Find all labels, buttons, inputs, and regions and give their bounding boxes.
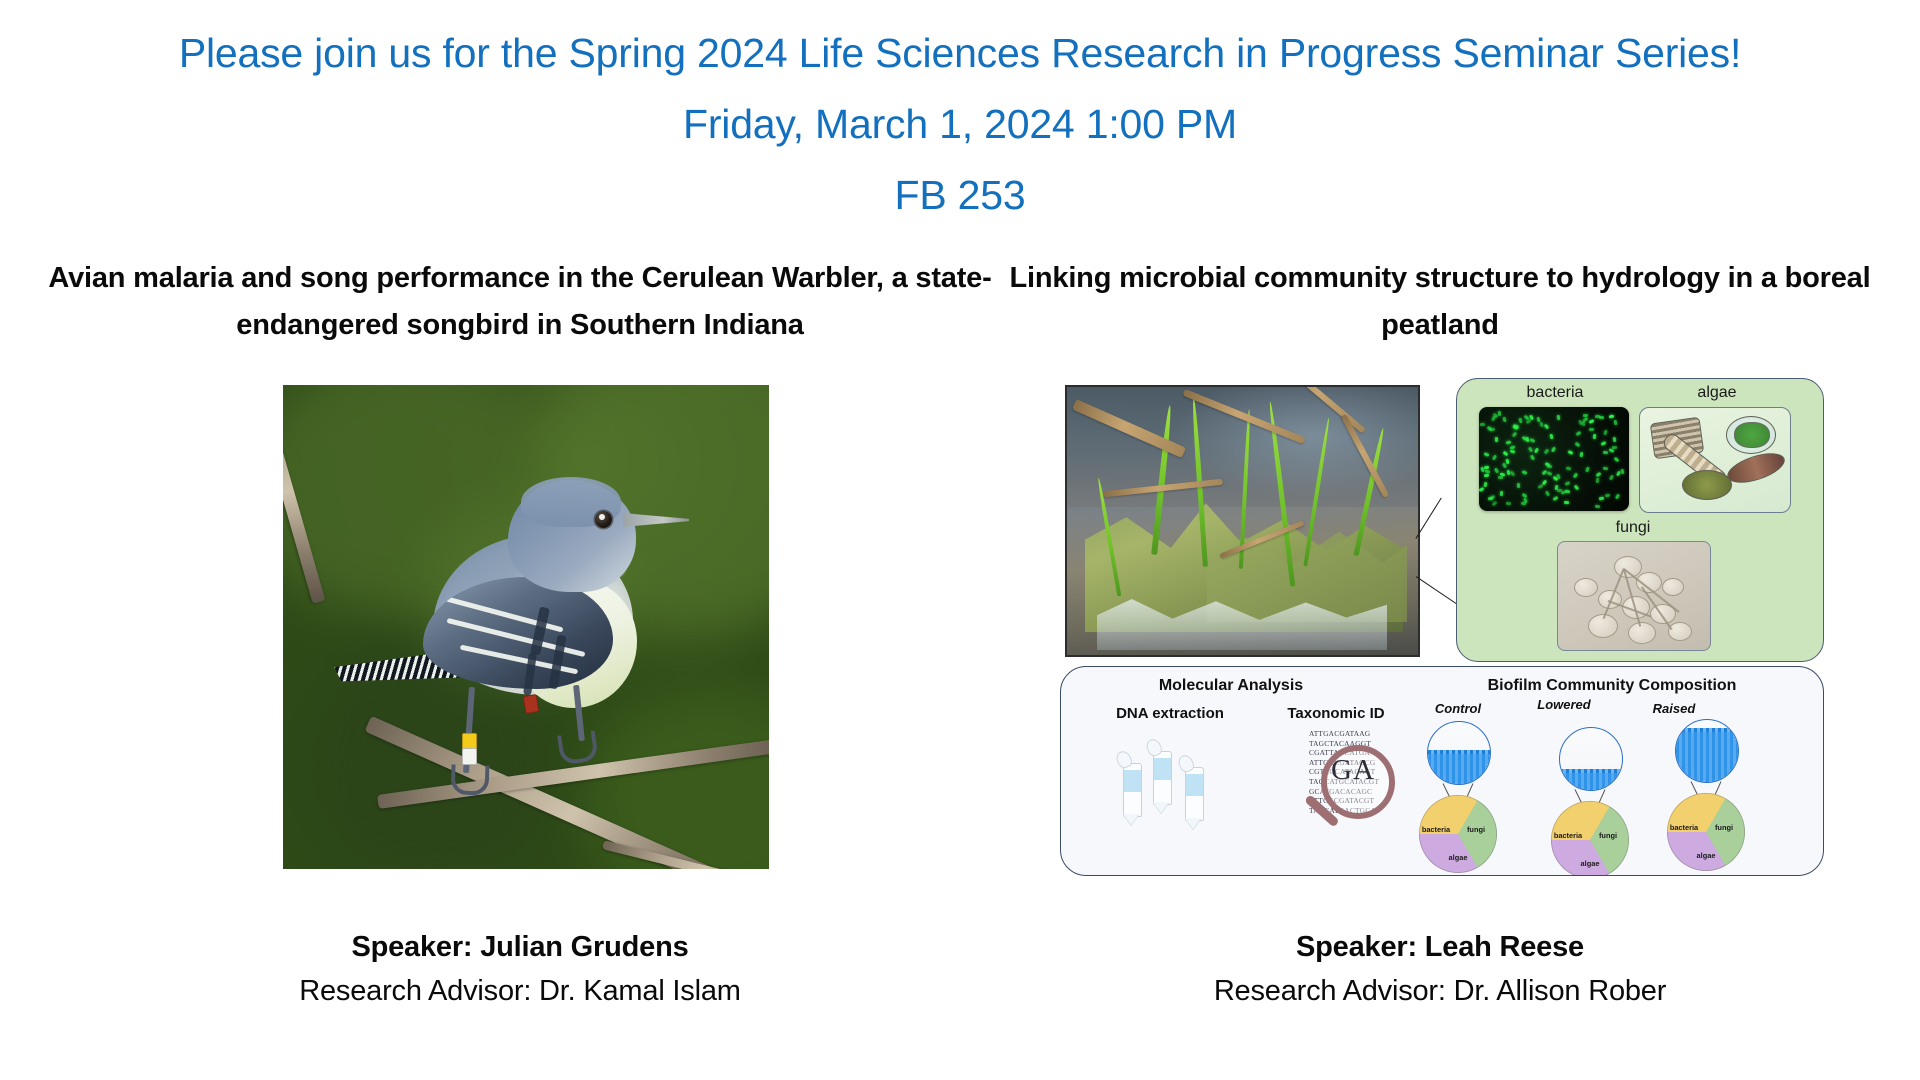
microcentrifuge-tube <box>1185 767 1204 821</box>
right-speaker-block: Speaker: Leah Reese Research Advisor: Dr… <box>990 925 1890 1013</box>
leg-band-white <box>462 748 477 765</box>
bacteria-cell <box>1614 494 1619 500</box>
bacteria-cell <box>1549 434 1553 440</box>
condition-label-lowered: Lowered <box>1509 697 1619 712</box>
fungi-micrograph <box>1557 541 1711 651</box>
algae-micrograph <box>1639 407 1791 513</box>
methods-schematic-panel: Molecular Analysis Biofilm Community Com… <box>1060 666 1824 876</box>
bacteria-cell <box>1537 484 1543 489</box>
bacteria-cell <box>1547 471 1553 476</box>
bacteria-cell <box>1613 457 1619 463</box>
bacteria-cell <box>1534 447 1539 453</box>
bacteria-cell <box>1500 472 1506 476</box>
bacteria-cell <box>1539 421 1543 427</box>
left-talk-title: Avian malaria and song performance in th… <box>40 255 1000 349</box>
bacteria-cell <box>1599 416 1604 419</box>
bacteria-cell <box>1566 467 1572 471</box>
bacteria-cell <box>1564 501 1569 504</box>
water-surface <box>1676 728 1738 732</box>
bacteria-cell <box>1546 464 1551 468</box>
bacteria-cell <box>1529 414 1534 420</box>
bacteria-cell <box>1530 454 1535 460</box>
bacteria-cell <box>1483 453 1489 458</box>
fungal-spore <box>1574 578 1598 597</box>
bacteria-cell <box>1523 498 1528 504</box>
bacteria-cell <box>1500 491 1503 496</box>
bacteria-cell <box>1510 470 1516 476</box>
bird-beak <box>623 513 689 527</box>
bacteria-cell <box>1480 423 1485 426</box>
green-alga <box>1734 422 1770 448</box>
seminar-header: Please join us for the Spring 2024 Life … <box>0 18 1920 231</box>
bacteria-cell <box>1498 411 1501 416</box>
tube-tip <box>1153 802 1169 813</box>
microcentrifuge-tube <box>1153 751 1172 805</box>
magnified-letters: GA <box>1329 754 1377 787</box>
bacteria-cell <box>1484 473 1489 477</box>
water-fill <box>1676 732 1738 782</box>
right-speaker-name: Speaker: Leah Reese <box>990 925 1890 969</box>
bacteria-cell <box>1603 467 1608 471</box>
bacteria-cell <box>1573 472 1578 478</box>
bacteria-cell <box>1557 415 1561 420</box>
fungal-spore <box>1628 622 1656 644</box>
bacteria-cell <box>1596 472 1602 477</box>
bacteria-cell <box>1528 446 1533 452</box>
pie-slice-label-bacteria: bacteria <box>1417 825 1455 834</box>
magnifier-icon: GA <box>1311 745 1385 819</box>
water-level-circle-lowered <box>1559 727 1623 791</box>
bird-eye-highlight <box>599 514 605 520</box>
fungal-spore <box>1662 578 1684 596</box>
bacteria-cell <box>1490 427 1495 431</box>
bacteria-cell <box>1596 478 1599 483</box>
peatland-photo <box>1065 385 1420 657</box>
right-talk-title: Linking microbial community structure to… <box>990 255 1890 349</box>
slide-canvas: Please join us for the Spring 2024 Life … <box>0 0 1920 1080</box>
header-line-datetime: Friday, March 1, 2024 1:00 PM <box>0 89 1920 160</box>
bacteria-cell <box>1491 415 1496 421</box>
microbial-inset-panel: bacteria algae fungi <box>1456 378 1824 662</box>
bacteria-cell <box>1510 449 1516 453</box>
bacteria-cell <box>1576 431 1582 436</box>
bacteria-cell <box>1605 493 1611 497</box>
cerulean-warbler-photo <box>283 385 769 869</box>
pie-slice-label-algae: algae <box>1575 859 1605 868</box>
bacteria-cell <box>1488 496 1494 500</box>
bacteria-cell <box>1621 469 1625 475</box>
water-level-circle-control <box>1427 721 1491 785</box>
warbler-bird <box>283 385 769 869</box>
pie-slice-label-fungi: fungi <box>1461 825 1491 834</box>
bacteria-cell <box>1506 459 1510 465</box>
bacteria-cell <box>1479 487 1484 492</box>
fungal-spore <box>1668 622 1692 641</box>
fungal-spore <box>1614 556 1642 578</box>
bacteria-cell <box>1601 441 1607 446</box>
pie-slice-label-fungi: fungi <box>1709 823 1739 832</box>
bacteria-cell <box>1588 419 1594 424</box>
water-fill <box>1560 773 1622 790</box>
bacteria-cell <box>1536 417 1540 423</box>
bacteria-cell <box>1484 466 1489 470</box>
bacteria-cell <box>1575 441 1581 447</box>
bacteria-cell <box>1506 502 1511 506</box>
bacteria-cell <box>1506 441 1512 445</box>
dna-extraction-label: DNA extraction <box>1075 705 1265 722</box>
bacteria-cell <box>1492 455 1497 461</box>
bacteria-cell <box>1512 425 1518 430</box>
left-advisor: Research Advisor: Dr. Kamal Islam <box>40 969 1000 1013</box>
water-level-circle-raised <box>1675 719 1739 783</box>
pie-slice-label-bacteria: bacteria <box>1665 823 1703 832</box>
peatland-figure: bacteria algae fungi Molecular Analysis … <box>1060 378 1822 878</box>
bacteria-cell <box>1543 424 1549 430</box>
condition-label-control: Control <box>1403 701 1513 716</box>
bacteria-cell <box>1603 451 1608 455</box>
bacteria-cell <box>1551 447 1556 453</box>
bacteria-cell <box>1604 430 1608 436</box>
bird-foot <box>450 764 489 795</box>
pie-slice-label-bacteria: bacteria <box>1549 831 1587 840</box>
bacteria-cell <box>1484 482 1488 487</box>
bacteria-cell <box>1503 451 1509 457</box>
bacteria-cell <box>1613 420 1617 425</box>
bacteria-cell <box>1599 496 1605 500</box>
bacteria-cell <box>1495 437 1498 442</box>
bacteria-cell <box>1493 467 1498 473</box>
bird-foot <box>557 731 599 766</box>
algae-label: algae <box>1657 384 1777 402</box>
bacteria-cell <box>1612 445 1617 448</box>
bacteria-cell <box>1616 471 1621 477</box>
callout-leader-line <box>1416 576 1460 606</box>
bacteria-cell <box>1541 469 1547 475</box>
bacteria-cell <box>1545 490 1550 496</box>
bacteria-cell <box>1530 438 1536 443</box>
molecular-analysis-heading: Molecular Analysis <box>1091 677 1371 695</box>
bacteria-cell <box>1503 417 1507 423</box>
biofilm-composition-heading: Biofilm Community Composition <box>1421 677 1803 695</box>
diatom <box>1682 470 1732 500</box>
microcentrifuge-tube <box>1123 763 1142 817</box>
bacteria-cell <box>1608 414 1614 418</box>
water-surface <box>1560 769 1622 773</box>
bacteria-cell <box>1613 437 1617 442</box>
bacteria-cell <box>1517 483 1520 488</box>
header-line-title: Please join us for the Spring 2024 Life … <box>0 18 1920 89</box>
bacteria-cell <box>1492 500 1498 506</box>
tube-tip <box>1185 818 1201 829</box>
bacteria-cell <box>1574 485 1579 491</box>
bacteria-cell <box>1552 496 1558 501</box>
left-speaker-name: Speaker: Julian Grudens <box>40 925 1000 969</box>
leg-band-red <box>523 694 540 714</box>
bacteria-cell <box>1518 417 1522 423</box>
bacteria-cell <box>1511 432 1517 438</box>
pie-slice-label-algae: algae <box>1443 853 1473 862</box>
bacteria-label: bacteria <box>1485 384 1625 402</box>
bacteria-micrograph <box>1479 407 1629 511</box>
fungi-label: fungi <box>1553 519 1713 537</box>
bacteria-cell <box>1609 475 1614 481</box>
tube-tip <box>1123 814 1139 825</box>
bacteria-cell <box>1522 470 1528 475</box>
left-speaker-block: Speaker: Julian Grudens Research Advisor… <box>40 925 1000 1013</box>
bacteria-cell <box>1589 428 1594 431</box>
bacteria-cell <box>1595 504 1600 508</box>
bacteria-cell <box>1580 452 1584 457</box>
header-line-room: FB 253 <box>0 160 1920 231</box>
water-surface <box>1428 750 1490 754</box>
bacteria-cell <box>1568 450 1574 455</box>
bacteria-cell <box>1592 434 1595 439</box>
pie-slice-label-algae: algae <box>1691 851 1721 860</box>
pie-slice-label-fungi: fungi <box>1593 831 1623 840</box>
right-advisor: Research Advisor: Dr. Allison Rober <box>990 969 1890 1013</box>
bacteria-cell <box>1564 481 1570 486</box>
bacteria-cell <box>1543 448 1548 454</box>
water-fill <box>1428 754 1490 784</box>
condition-label-raised: Raised <box>1619 701 1729 716</box>
bacteria-cell <box>1585 467 1590 473</box>
